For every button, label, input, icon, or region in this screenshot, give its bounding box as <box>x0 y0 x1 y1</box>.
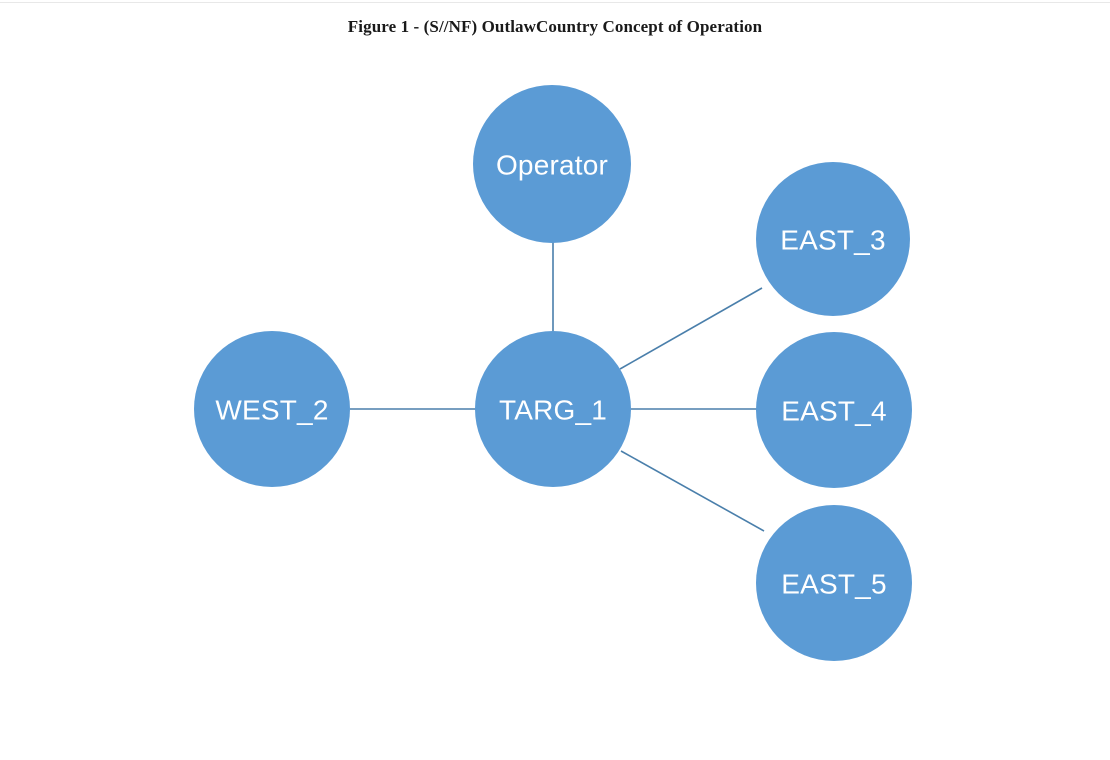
figure-page: Figure 1 - (S//NF) OutlawCountry Concept… <box>0 0 1110 760</box>
node-east_3[interactable]: EAST_3 <box>756 162 910 316</box>
node-targ_1[interactable]: TARG_1 <box>475 331 631 487</box>
node-label-east_5: EAST_5 <box>781 569 886 600</box>
node-operator[interactable]: Operator <box>473 85 631 243</box>
edge-targ_1-east_3 <box>620 288 762 369</box>
node-label-operator: Operator <box>496 150 608 181</box>
node-label-east_4: EAST_4 <box>781 396 886 427</box>
node-east_4[interactable]: EAST_4 <box>756 332 912 488</box>
node-east_5[interactable]: EAST_5 <box>756 505 912 661</box>
edge-targ_1-east_5 <box>621 451 764 531</box>
node-label-targ_1: TARG_1 <box>499 395 607 426</box>
node-label-east_3: EAST_3 <box>780 225 885 256</box>
node-west_2[interactable]: WEST_2 <box>194 331 350 487</box>
network-diagram: OperatorTARG_1WEST_2EAST_3EAST_4EAST_5 <box>0 0 1110 760</box>
diagram-nodes: OperatorTARG_1WEST_2EAST_3EAST_4EAST_5 <box>194 85 912 661</box>
node-label-west_2: WEST_2 <box>215 395 328 426</box>
